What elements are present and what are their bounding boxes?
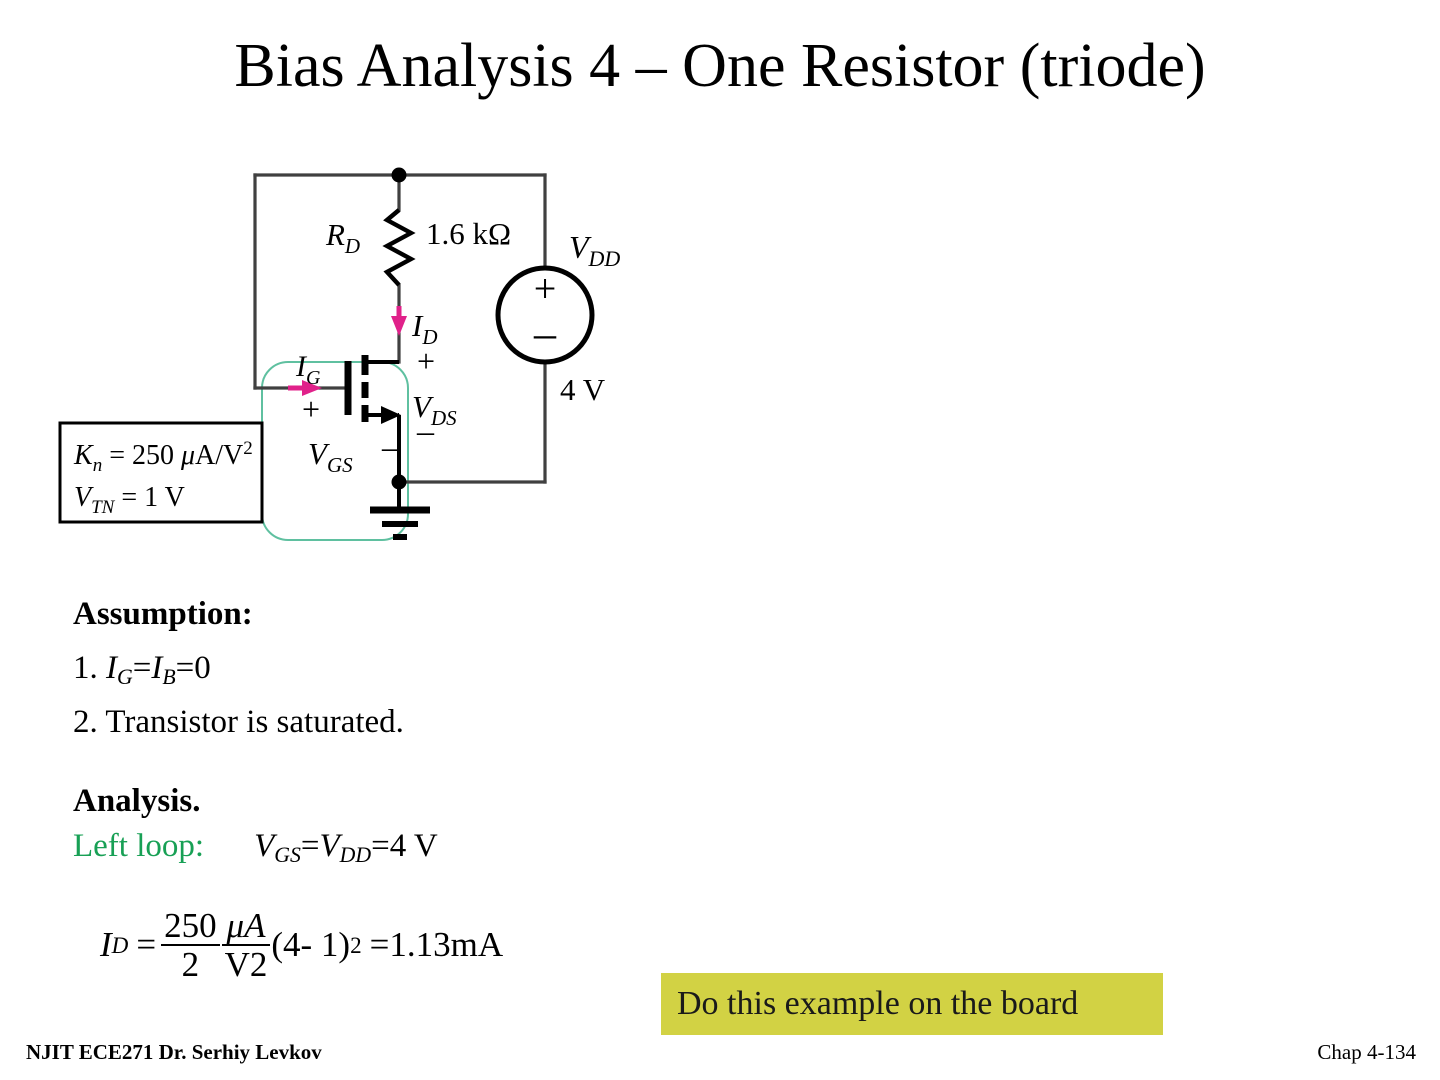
assumption-heading: Assumption: (73, 588, 773, 642)
label-source-name: VDD (569, 229, 620, 271)
left-loop-vgs-sub: GS (274, 843, 301, 867)
left-loop-vdd-sub: DD (340, 843, 371, 867)
body-text-block: Assumption: 1. IG=IB=0 2. Transistor is … (73, 588, 773, 829)
equation-fraction-250-2: 250 2 (161, 908, 220, 982)
left-loop-vdd: V (319, 828, 339, 864)
left-loop-label: Left loop: (73, 828, 204, 864)
assumption-1-ib-sub: B (162, 665, 175, 689)
drain-current-equation: ID = 250 2 μA V2 (4- 1)2 = 1.13mA (100, 908, 503, 982)
assumption-1-ig-sub: G (117, 665, 133, 689)
equation-result: 1.13mA (389, 925, 503, 965)
resistor-RD (387, 210, 411, 285)
assumption-1-ib: I (151, 650, 162, 686)
page-title: Bias Analysis 4 – One Resistor (triode) (60, 34, 1380, 99)
label-vds-plus: + (417, 343, 435, 379)
label-vds-minus: – (416, 413, 435, 450)
label-vgs: VGS (308, 436, 353, 477)
left-loop-equation: VGS=VDD=4 V (254, 828, 438, 864)
label-vgs-plus: + (302, 391, 320, 427)
drain-current-arrow (391, 306, 407, 336)
equation-id-sub: D (112, 932, 129, 959)
equation-fraction-uA-V2: μA V2 (222, 908, 271, 982)
label-gate-current: IG (295, 350, 321, 389)
equation-term: (4- 1) (271, 925, 350, 965)
board-note-text: Do this example on the board (661, 985, 1078, 1023)
equation-id-symbol: I (100, 925, 112, 965)
source-plus-sign: + (534, 266, 557, 311)
assumption-item-2: 2. Transistor is saturated. (73, 696, 773, 750)
source-minus-sign: – (533, 309, 557, 358)
circuit-diagram: + – RD 1.6 kΩ ID (40, 150, 660, 560)
equation-frac1-den: 2 (179, 946, 203, 982)
footer-page-number: Chap 4-134 (1317, 1040, 1416, 1065)
node-dot-top (392, 168, 407, 183)
assumption-1-ig: I (106, 650, 117, 686)
equation-frac2-den: V2 (222, 946, 271, 982)
assumption-1-eq1: = (133, 650, 152, 686)
assumption-item-1: 1. IG=IB=0 (73, 642, 773, 696)
equation-frac1-num: 250 (161, 908, 220, 944)
equation-term-exponent: 2 (350, 932, 362, 959)
left-loop-row: Left loop:VGS=VDD=4 V (73, 828, 438, 868)
label-source-value: 4 V (560, 372, 606, 407)
analysis-heading: Analysis. (73, 775, 773, 829)
equation-frac2-num: μA (224, 908, 269, 944)
board-note-callout: Do this example on the board (661, 973, 1163, 1035)
equation-equals-2: = (370, 925, 390, 965)
equation-equals: = (136, 925, 156, 965)
left-loop-eq2: =4 V (371, 828, 438, 864)
assumption-1-eq2: =0 (176, 650, 211, 686)
footer-course-info: NJIT ECE271 Dr. Serhiy Levkov (26, 1040, 322, 1065)
label-resistor-value: 1.6 kΩ (426, 216, 511, 251)
left-loop-eq1: = (301, 828, 320, 864)
assumption-1-prefix: 1. (73, 650, 106, 686)
label-vgs-minus: – (381, 429, 400, 466)
param-vtn: VTN = 1 V (74, 482, 185, 518)
label-resistor: RD (325, 217, 360, 258)
left-loop-vgs: V (254, 828, 274, 864)
ground-symbol (370, 482, 430, 537)
slide-canvas: Bias Analysis 4 – One Resistor (triode) (0, 0, 1440, 1080)
